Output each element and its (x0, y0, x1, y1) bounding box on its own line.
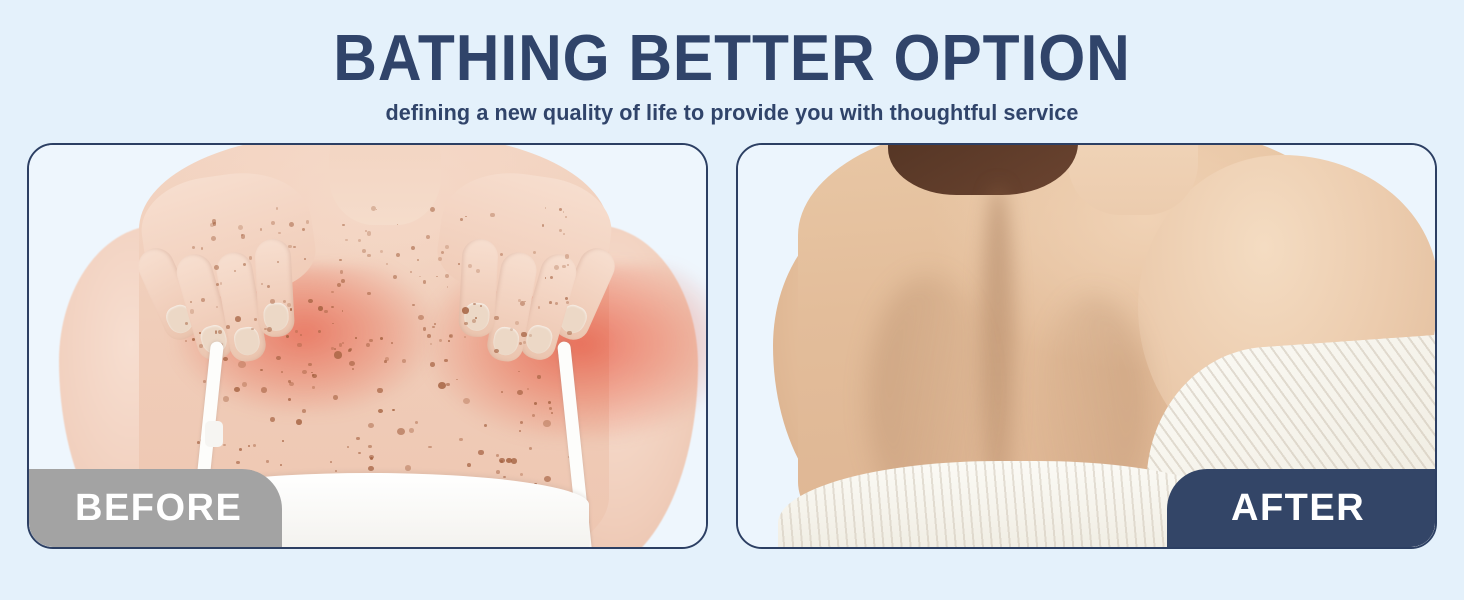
mole-dot (537, 375, 541, 378)
freckle-dot (460, 218, 463, 221)
freckle-dot (562, 265, 565, 268)
mole-dot (565, 297, 568, 300)
freckle-dot (277, 261, 279, 263)
freckle-dot (412, 304, 414, 306)
freckle-dot (468, 264, 472, 268)
freckle-dot (288, 245, 292, 249)
freckle-dot (436, 276, 438, 278)
mole-dot (333, 395, 338, 400)
freckle-dot (510, 328, 513, 331)
mole-dot (288, 380, 291, 383)
freckle-dot (216, 306, 218, 308)
freckle-dot (438, 257, 442, 261)
freckle-dot (386, 263, 388, 265)
mole-dot (464, 322, 468, 326)
mole-dot (480, 305, 482, 307)
mole-dot (369, 455, 374, 459)
freckle-dot (332, 323, 334, 325)
mole-dot (475, 317, 477, 319)
freckle-dot (490, 213, 495, 218)
mole-dot (484, 424, 487, 427)
freckle-dot (439, 339, 442, 342)
mole-dot (235, 316, 241, 321)
mole-dot (448, 340, 451, 342)
freckle-dot (362, 249, 366, 253)
freckle-dot (533, 251, 536, 254)
freckle-dot (267, 327, 272, 332)
freckle-dot (190, 301, 192, 303)
freckle-dot (367, 231, 371, 235)
after-badge: AFTER (1167, 469, 1435, 547)
freckle-dot (559, 208, 562, 211)
freckle-dot (306, 220, 309, 223)
mole-dot (434, 323, 436, 325)
freckle-dot (251, 328, 253, 330)
freckle-dot (529, 334, 532, 337)
mole-dot (529, 447, 532, 450)
mole-dot (347, 446, 349, 448)
mole-dot (534, 402, 537, 405)
mole-dot (409, 428, 415, 433)
mole-dot (456, 379, 458, 381)
banner-header: BATHING BETTER OPTION defining a new qua… (0, 24, 1464, 126)
mole-dot (368, 445, 372, 448)
freckle-dot (212, 219, 216, 223)
before-panel: BEFORE (27, 143, 708, 549)
mole-dot (384, 360, 387, 363)
mole-dot (261, 387, 267, 393)
mole-dot (356, 437, 359, 440)
mole-dot (223, 396, 229, 401)
mole-dot (226, 325, 230, 329)
mole-dot (496, 454, 499, 457)
freckle-dot (432, 326, 434, 328)
freckle-dot (411, 246, 415, 250)
freckle-dot (426, 235, 430, 239)
mole-dot (312, 386, 315, 388)
freckle-dot (550, 276, 553, 279)
freckle-dot (430, 343, 432, 345)
mole-dot (260, 369, 263, 371)
mole-dot (501, 391, 504, 393)
mole-dot (349, 361, 355, 366)
mole-dot (335, 470, 338, 472)
mole-dot (282, 440, 284, 442)
mole-dot (520, 473, 523, 476)
freckle-dot (293, 246, 296, 249)
mole-dot (199, 344, 203, 348)
freckle-dot (216, 283, 219, 286)
freckle-dot (523, 341, 526, 344)
freckle-dot (331, 291, 333, 293)
mole-dot (331, 306, 333, 308)
freckle-dot (423, 280, 427, 284)
mole-dot (519, 430, 521, 432)
mole-dot (288, 398, 291, 401)
freckle-dot (201, 298, 205, 302)
freckle-dot (566, 301, 569, 304)
mole-dot (185, 322, 188, 325)
mole-dot (253, 444, 256, 447)
mole-dot (270, 299, 276, 304)
mole-dot (519, 342, 523, 345)
freckle-dot (218, 330, 222, 334)
mole-dot (290, 308, 292, 310)
freckle-dot (300, 334, 302, 336)
freckle-dot (366, 343, 370, 347)
mole-dot (368, 466, 374, 471)
freckle-dot (538, 306, 540, 308)
freckle-dot (423, 327, 427, 331)
freckle-dot (565, 254, 570, 259)
freckle-dot (289, 222, 294, 227)
promo-banner: BATHING BETTER OPTION defining a new qua… (0, 0, 1464, 600)
mole-dot (392, 409, 395, 412)
mole-dot (215, 331, 217, 333)
freckle-dot (476, 269, 480, 273)
mole-dot (302, 370, 307, 374)
mole-dot (527, 388, 529, 390)
freckle-dot (567, 331, 572, 336)
freckle-dot (396, 253, 400, 257)
freckle-dot (376, 209, 378, 211)
mole-dot (506, 458, 512, 463)
mole-dot (223, 444, 225, 446)
mole-dot (520, 421, 523, 424)
mole-dot (239, 448, 242, 451)
freckle-dot (555, 302, 558, 305)
freckle-dot (276, 207, 279, 210)
mole-dot (355, 337, 357, 339)
freckle-dot (524, 301, 526, 303)
mole-dot (380, 337, 383, 340)
freckle-dot (260, 228, 263, 231)
mole-dot (358, 452, 360, 454)
freckle-dot (417, 259, 420, 262)
mole-dot (551, 412, 553, 414)
freckle-dot (567, 264, 569, 266)
mole-dot (463, 398, 470, 404)
mole-dot (312, 374, 317, 378)
mole-dot (334, 351, 342, 358)
freckle-dot (447, 286, 449, 288)
mole-dot (467, 463, 471, 467)
freckle-dot (241, 234, 245, 238)
mole-dot (238, 361, 246, 368)
freckle-dot (367, 254, 370, 257)
mole-dot (402, 359, 406, 363)
freckle-dot (449, 334, 453, 338)
mole-dot (368, 423, 374, 428)
freckle-dot (278, 232, 280, 234)
freckle-dot (500, 253, 503, 256)
freckle-dot (214, 265, 219, 270)
freckle-dot (341, 279, 345, 283)
mole-dot (334, 348, 336, 350)
freckle-dot (339, 259, 342, 262)
freckle-dot (190, 309, 195, 314)
freckle-dot (318, 330, 321, 333)
freckle-dot (295, 330, 297, 332)
freckle-dot (545, 207, 547, 209)
before-badge: BEFORE (29, 469, 282, 547)
freckle-dot (563, 211, 565, 213)
mole-dot (215, 330, 217, 332)
freckle-dot (472, 319, 476, 323)
freckle-dot (302, 228, 305, 231)
freckle-dot (419, 276, 421, 278)
mole-dot (308, 299, 313, 304)
freckle-dot (238, 225, 243, 230)
mole-dot (444, 359, 447, 362)
mole-dot (234, 387, 239, 392)
mole-dot (428, 446, 431, 449)
freckle-dot (464, 336, 466, 338)
mole-dot (199, 332, 201, 334)
bra-strap-clip (205, 421, 223, 447)
mole-dot (499, 458, 504, 463)
mole-dot (348, 349, 351, 352)
mole-dot (283, 300, 286, 303)
freckle-dot (287, 303, 291, 307)
freckle-dot (340, 270, 343, 273)
mole-dot (378, 409, 383, 413)
mole-dot (286, 335, 290, 338)
mole-dot (397, 428, 405, 435)
freckle-dot (261, 283, 263, 285)
freckle-dot (545, 277, 547, 279)
mole-dot (478, 450, 483, 455)
mole-dot (418, 315, 424, 321)
mole-dot (369, 339, 373, 343)
mole-dot (503, 476, 506, 478)
mole-dot (242, 382, 247, 387)
mole-dot (521, 332, 526, 337)
mole-dot (427, 334, 431, 338)
after-panel: AFTER (736, 143, 1437, 549)
mole-dot (266, 460, 269, 462)
mole-dot (270, 417, 275, 422)
freckle-dot (367, 292, 371, 296)
freckle-dot (371, 206, 376, 211)
mole-dot (544, 476, 551, 482)
freckle-dot (243, 263, 246, 266)
mole-dot (405, 465, 411, 470)
mole-dot (459, 438, 463, 441)
freckle-dot (337, 283, 341, 287)
freckle-dot (234, 270, 236, 272)
page-title: BATHING BETTER OPTION (51, 24, 1413, 92)
mole-dot (548, 401, 551, 404)
mole-dot (276, 356, 281, 360)
mole-dot (185, 340, 187, 342)
freckle-dot (342, 224, 344, 226)
mole-dot (518, 371, 520, 373)
freckle-dot (430, 207, 435, 212)
mole-dot (281, 371, 283, 373)
mole-dot (549, 407, 552, 410)
mole-dot (377, 388, 382, 393)
mole-dot (318, 306, 323, 310)
freckle-dot (554, 265, 559, 270)
freckle-dot (410, 271, 412, 273)
freckle-dot (441, 251, 444, 254)
mole-dot (197, 441, 200, 444)
mole-dot (496, 470, 500, 474)
mole-dot (308, 363, 312, 366)
freckle-dot (465, 216, 467, 218)
mole-dot (302, 409, 306, 413)
freckle-dot (201, 247, 203, 249)
mole-dot (517, 390, 523, 396)
freckle-dot (393, 275, 398, 280)
freckle-dot (304, 258, 306, 260)
mole-dot (192, 338, 195, 341)
freckle-dot (380, 250, 383, 253)
mole-dot (549, 301, 552, 304)
freckle-dot (297, 343, 301, 347)
freckle-dot (192, 246, 195, 249)
mole-dot (532, 414, 535, 417)
page-subtitle: defining a new quality of life to provid… (29, 100, 1434, 126)
freckle-dot (365, 230, 367, 232)
freckle-dot (563, 233, 565, 235)
freckle-dot (515, 321, 519, 325)
mole-dot (438, 382, 446, 389)
mole-dot (446, 383, 449, 386)
freckle-dot (249, 256, 253, 260)
mole-dot (223, 357, 228, 361)
mole-dot (462, 307, 470, 314)
mole-dot (203, 380, 206, 382)
mole-dot (324, 310, 328, 313)
before-badge-label: BEFORE (75, 487, 242, 530)
mole-dot (296, 419, 302, 424)
freckle-dot (445, 274, 449, 278)
mole-dot (248, 445, 250, 447)
mole-dot (473, 303, 476, 306)
mole-dot (430, 362, 435, 366)
freckle-dot (211, 236, 216, 241)
mole-dot (391, 342, 394, 344)
freckle-dot (345, 239, 348, 242)
mole-dot (385, 357, 389, 361)
freckle-dot (445, 245, 449, 249)
freckle-dot (342, 310, 344, 312)
mole-dot (494, 349, 499, 353)
freckle-dot (559, 229, 562, 232)
mole-dot (543, 420, 550, 427)
freckle-dot (565, 216, 567, 218)
mole-dot (330, 461, 332, 463)
freckle-dot (397, 224, 399, 226)
mole-dot (352, 368, 354, 370)
freckle-dot (271, 221, 275, 225)
freckle-dot (220, 282, 223, 285)
freckle-dot (542, 224, 544, 226)
after-badge-label: AFTER (1231, 487, 1365, 530)
freckle-dot (358, 239, 361, 242)
freckle-dot (494, 316, 498, 320)
freckle-dot (267, 285, 270, 288)
mole-dot (280, 464, 282, 466)
freckle-dot (458, 263, 460, 265)
mole-dot (415, 421, 419, 424)
mole-dot (236, 461, 240, 464)
mole-dot (254, 318, 257, 320)
